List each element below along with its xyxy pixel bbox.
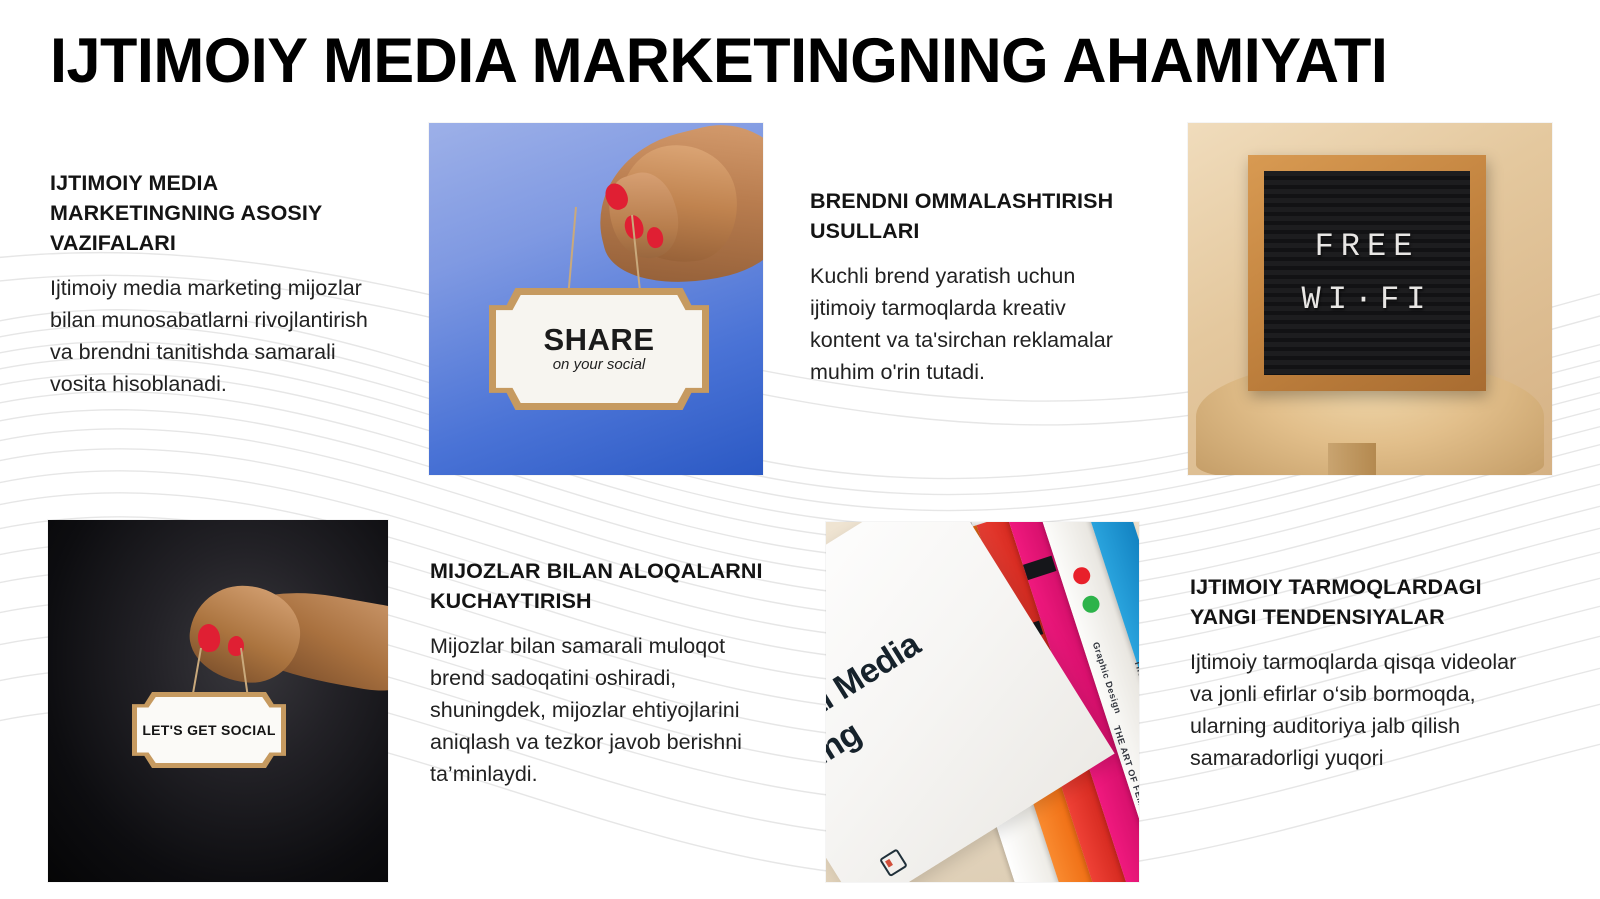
block-heading: IJTIMOIY TARMOQLARDAGI YANGI TENDENSIYAL… [1190,572,1520,632]
page-title: IJTIMOIY MEDIA MARKETINGNING AHAMIYATI [50,26,1505,96]
share-sign-word: SHARE [543,324,654,356]
slide-canvas: IJTIMOIY MEDIA MARKETINGNING AHAMIYATI S… [0,0,1600,899]
letterboard-face: FREE WI·FI [1264,171,1470,375]
block-body: Ijtimoiy media marketing mijozlar bilan … [50,272,390,400]
block-heading: MIJOZLAR BILAN ALOQALARNI KUCHAYTIRISH [430,556,765,616]
hanging-sign: LET'S GET SOCIAL [132,692,286,768]
share-sign-subtitle: on your social [553,356,646,374]
text-block-yangi-tendensiyalar: IJTIMOIY TARMOQLARDAGI YANGI TENDENSIYAL… [1190,572,1520,774]
letterboard-frame: FREE WI·FI [1248,155,1486,391]
letterboard-line-2: WI·FI [1301,281,1432,318]
photo-lets-get-social-sign: LET'S GET SOCIAL [48,520,388,882]
block-heading: BRENDNI OMMALASHTIRISH USULLARI [810,186,1140,246]
letterboard-line-1: FREE [1315,228,1420,265]
photo-free-wifi-letterboard: FREE WI·FI [1188,123,1552,475]
notebook-title-line-2: ting [826,711,869,780]
block-body: Mijozlar bilan samarali muloqot brend sa… [430,630,765,790]
text-block-mijozlar-bilan-aloqalar: MIJOZLAR BILAN ALOQALARNI KUCHAYTIRISH M… [430,556,765,790]
sign-string [568,207,577,293]
stool-leg [1328,443,1376,475]
photo-share-sign: SHARE on your social [429,123,763,475]
text-block-asosiy-vazifalari: IJTIMOIY MEDIA MARKETINGNING ASOSIY VAZI… [50,168,390,400]
notebook-logo-icon [879,848,908,877]
photo-social-media-marketing-desk: Graphic Design The Design Process THE AR… [826,522,1139,882]
text-block-brendni-ommalashtirish: BRENDNI OMMALASHTIRISH USULLARI Kuchli b… [810,186,1140,388]
block-heading: IJTIMOIY MEDIA MARKETINGNING ASOSIY VAZI… [50,168,390,258]
hanging-sign: SHARE on your social [489,288,709,410]
block-body: Ijtimoiy tarmoqlarda qisqa videolar va j… [1190,646,1520,774]
social-sign-text: LET'S GET SOCIAL [142,722,275,738]
block-body: Kuchli brend yaratish uchun ijtimoiy tar… [810,260,1140,388]
